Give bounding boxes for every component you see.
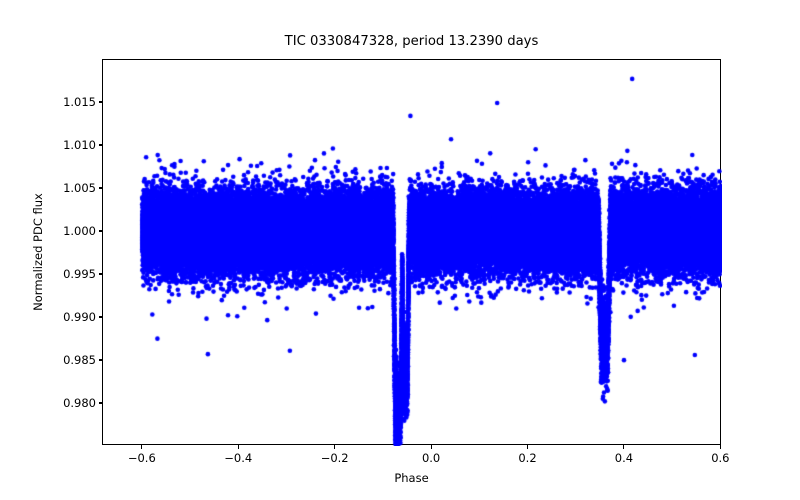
y-tick-mark <box>99 187 103 188</box>
y-tick-label: 0.980 <box>63 396 96 410</box>
y-tick-label: 1.005 <box>63 181 96 195</box>
x-tick-mark <box>623 445 624 449</box>
x-tick-mark <box>141 445 142 449</box>
y-tick-mark <box>99 144 103 145</box>
x-tick-mark <box>720 445 721 449</box>
x-tick-label: 0.6 <box>711 451 729 465</box>
y-tick-mark <box>99 402 103 403</box>
y-tick-mark <box>99 316 103 317</box>
x-tick-mark <box>334 445 335 449</box>
x-tick-label: 0.0 <box>422 451 440 465</box>
plot-axes <box>102 59 721 445</box>
y-tick-label: 1.015 <box>63 95 96 109</box>
y-axis-label: Normalized PDC flux <box>31 59 47 445</box>
x-tick-label: −0.4 <box>224 451 252 465</box>
y-tick-label: 1.010 <box>63 138 96 152</box>
y-tick-mark <box>99 230 103 231</box>
x-tick-mark <box>431 445 432 449</box>
y-tick-mark <box>99 359 103 360</box>
y-tick-label: 1.000 <box>63 224 96 238</box>
y-tick-label: 0.995 <box>63 267 96 281</box>
scatter-plot-canvas <box>103 60 722 446</box>
y-tick-mark <box>99 273 103 274</box>
x-tick-mark <box>527 445 528 449</box>
y-tick-label: 0.990 <box>63 310 96 324</box>
x-tick-label: 0.2 <box>518 451 536 465</box>
x-tick-label: −0.2 <box>321 451 349 465</box>
x-axis-label: Phase <box>102 471 721 485</box>
y-tick-mark <box>99 101 103 102</box>
page-title: TIC 0330847328, period 13.2390 days <box>102 34 721 49</box>
y-tick-label: 0.985 <box>63 353 96 367</box>
x-tick-label: 0.4 <box>615 451 633 465</box>
x-tick-mark <box>238 445 239 449</box>
matplotlib-figure: TIC 0330847328, period 13.2390 days −0.6… <box>0 0 800 500</box>
x-tick-label: −0.6 <box>128 451 156 465</box>
